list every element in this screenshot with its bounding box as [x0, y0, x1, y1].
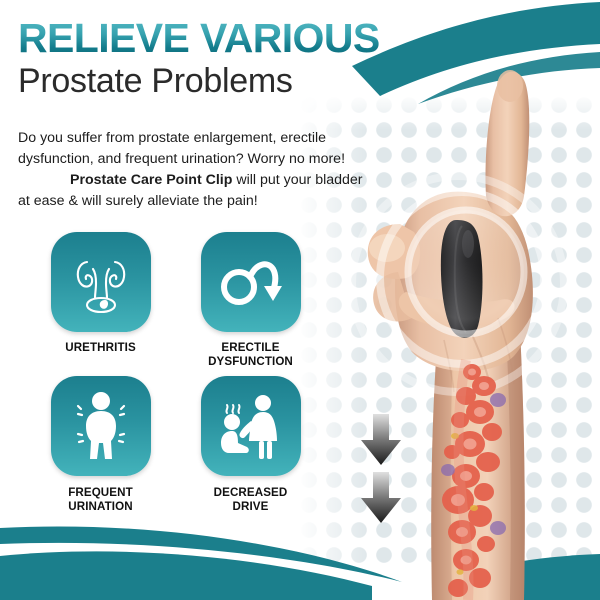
card-label: FREQUENT URINATION [68, 486, 133, 513]
headline-primary: RELIEVE VARIOUS [18, 18, 380, 59]
card-label-line-2: DRIVE [233, 500, 269, 513]
kidney-bladder-icon [69, 250, 133, 314]
card-label: DECREASED DRIVE [214, 486, 288, 513]
card-label: ERECTILE DYSFUNCTION [208, 341, 293, 368]
male-symbol-drooping-icon [218, 253, 284, 311]
card-tile [201, 376, 301, 476]
person-urgency-icon [70, 391, 132, 461]
couple-rejection-icon [216, 391, 286, 461]
symptom-cards-grid: URETHRITIS ERECTILE DYSFUNCTION [48, 232, 348, 514]
body-copy: Do you suffer from prostate enlargement,… [18, 128, 370, 212]
headline-block: RELIEVE VARIOUS Prostate Problems [18, 18, 380, 100]
downward-arrows [360, 414, 402, 530]
body-line-3: Prostate Care Point Clip will put your b… [18, 170, 370, 191]
symptom-card-urethritis[interactable]: URETHRITIS [48, 232, 153, 368]
card-label-line-1: FREQUENT [68, 486, 133, 499]
downward-arrow-icon [360, 414, 402, 466]
body-line-4: at ease & will surely alleviate the pain… [18, 191, 370, 212]
symptom-card-erectile-dysfunction[interactable]: ERECTILE DYSFUNCTION [198, 232, 303, 368]
card-tile [51, 376, 151, 476]
card-tile [51, 232, 151, 332]
card-label-line-2: URINATION [68, 500, 132, 513]
body-line-1: Do you suffer from prostate enlargement,… [18, 128, 370, 149]
card-tile [201, 232, 301, 332]
card-label-line-1: ERECTILE [221, 341, 279, 354]
card-label-line-2: DYSFUNCTION [208, 355, 293, 368]
card-label-line-1: DECREASED [214, 486, 288, 499]
headline-secondary: Prostate Problems [18, 63, 380, 100]
product-name: Prostate Care Point Clip [70, 172, 232, 188]
downward-arrow-icon [360, 472, 402, 524]
symptom-card-frequent-urination[interactable]: FREQUENT URINATION [48, 376, 153, 513]
body-line-2: dysfunction, and frequent urination? Wor… [18, 149, 370, 170]
symptom-card-decreased-drive[interactable]: DECREASED DRIVE [198, 376, 303, 513]
advertisement-canvas: RELIEVE VARIOUS Prostate Problems Do you… [0, 0, 600, 600]
card-label: URETHRITIS [65, 341, 136, 355]
body-line-3-rest: will put your bladder [232, 172, 362, 188]
